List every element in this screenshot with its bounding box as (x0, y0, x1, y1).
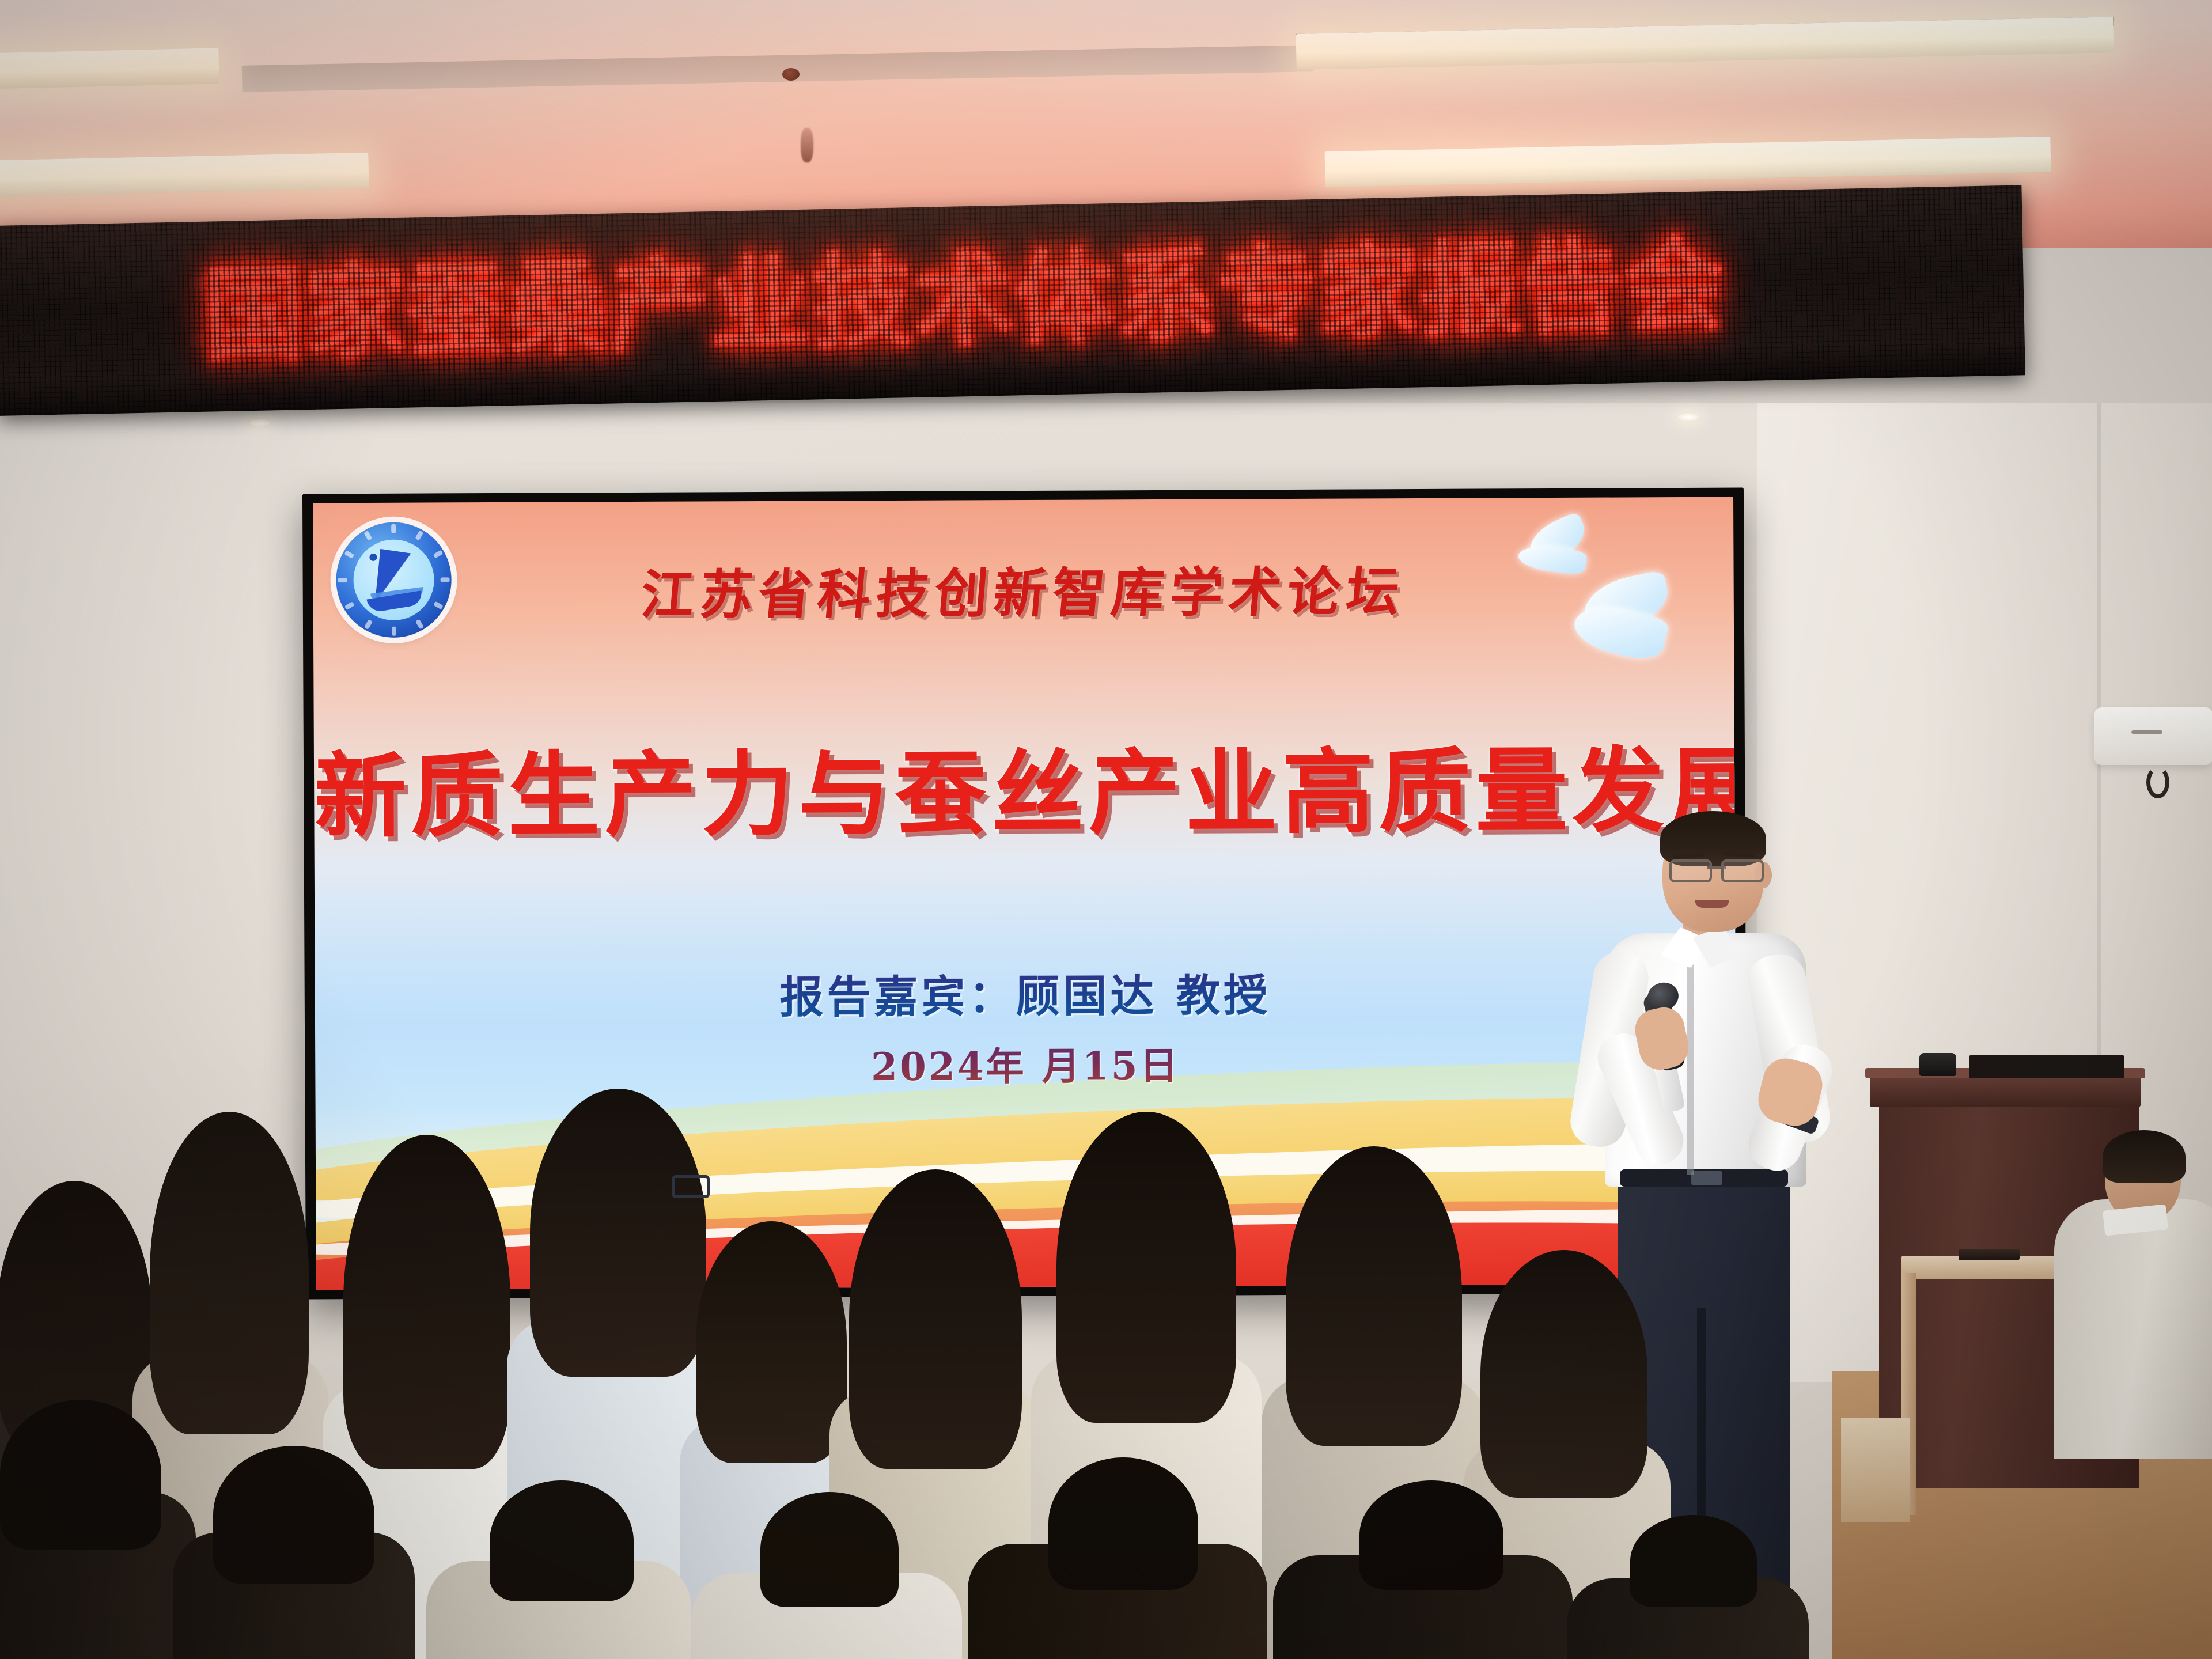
audience-member (1567, 1515, 1809, 1659)
led-char: 家 (303, 229, 407, 377)
led-char: 蚕 (404, 227, 509, 376)
led-char: 系 (1114, 213, 1218, 361)
led-char: 业 (709, 221, 813, 369)
slide-title: 新质生产力与蚕丝产业高质量发展 (314, 716, 1735, 856)
audience-member (691, 1492, 962, 1659)
led-char: 专 (1215, 210, 1320, 359)
led-banner: 国 家 蚕 桑 产 业 技 术 体 系 专 家 报 告 会 (0, 185, 2025, 416)
seated-attendee (2054, 1136, 2212, 1459)
slide-guest-line: 报告嘉宾：顾国达 教授 (315, 958, 1736, 1028)
led-char: 体 (1013, 214, 1117, 363)
led-char: 术 (911, 217, 1016, 365)
recessed-downlight-icon (1676, 412, 1700, 422)
led-char: 产 (607, 223, 711, 372)
audience-glasses-icon (672, 1175, 710, 1198)
desk-item (1959, 1249, 2020, 1260)
led-char: 告 (1520, 204, 1624, 353)
audience-member (1273, 1480, 1573, 1659)
audience-member (426, 1480, 691, 1659)
ceiling-light-fixture (1324, 137, 2051, 187)
ceiling-light-fixture (0, 48, 219, 89)
audience-member (968, 1457, 1267, 1659)
attendee-hair (2103, 1130, 2186, 1183)
conference-hall-scene: 国 家 蚕 桑 产 业 技 术 体 系 专 家 报 告 会 (0, 0, 2212, 1659)
led-char: 技 (810, 219, 914, 368)
slide-subtitle: 江苏省科技创新智库学术论坛 (313, 548, 1737, 631)
led-char: 家 (1317, 209, 1421, 357)
ceiling-light-fixture (1296, 17, 2115, 70)
led-char: 会 (1621, 202, 1725, 351)
ceiling-light-fixture (0, 153, 369, 197)
led-char: 国 (202, 231, 306, 380)
lectern-microphone-icon (1919, 1053, 1956, 1076)
led-char: 报 (1418, 206, 1522, 355)
glasses-icon (1669, 859, 1764, 879)
wall-mounted-ac-unit (2094, 707, 2212, 765)
recessed-downlight-icon (248, 418, 272, 427)
attendee-body (2054, 1199, 2212, 1459)
ceiling-band (242, 45, 1314, 92)
speaker-mouth (1695, 900, 1729, 908)
audience-member (173, 1446, 415, 1659)
ac-strap (2146, 766, 2169, 798)
smoke-detector-icon (782, 68, 800, 81)
audience-group (0, 1077, 1959, 1659)
lectern-panel (1969, 1055, 2124, 1078)
ceiling-fitting (801, 128, 813, 162)
audience-member (0, 1400, 196, 1659)
led-char: 桑 (506, 225, 610, 373)
ac-vent-slit (2131, 730, 2162, 734)
